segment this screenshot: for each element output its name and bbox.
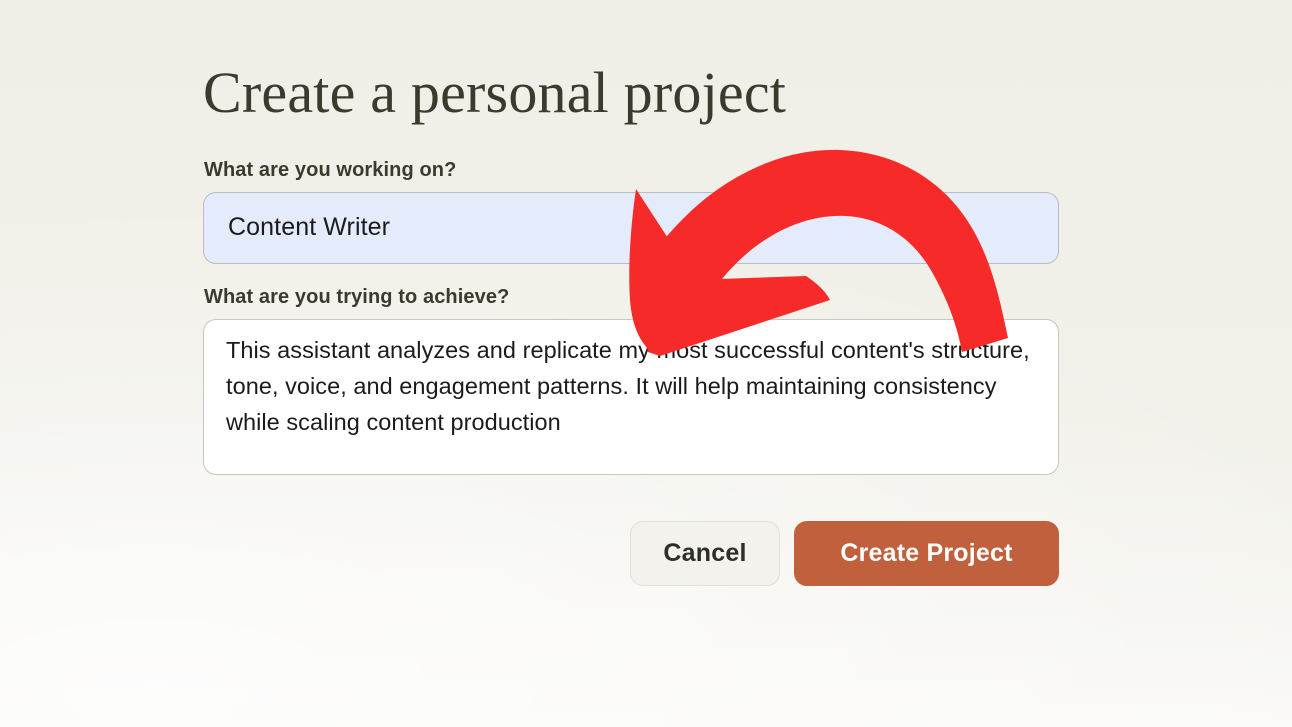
field-trying-to-achieve: What are you trying to achieve? bbox=[203, 286, 1059, 475]
field-spacer bbox=[203, 264, 1059, 286]
working-on-input[interactable] bbox=[203, 192, 1059, 264]
cancel-button[interactable]: Cancel bbox=[630, 521, 780, 586]
create-personal-project-dialog: Create a personal project What are you w… bbox=[203, 62, 1059, 586]
page-title: Create a personal project bbox=[203, 62, 1059, 125]
label-working-on: What are you working on? bbox=[204, 159, 1059, 182]
field-working-on: What are you working on? bbox=[203, 159, 1059, 264]
create-project-button[interactable]: Create Project bbox=[794, 521, 1059, 586]
trying-to-achieve-textarea[interactable] bbox=[203, 319, 1059, 475]
app-screen: Create a personal project What are you w… bbox=[0, 0, 1292, 727]
dialog-actions: Cancel Create Project bbox=[203, 521, 1059, 586]
label-trying-to-achieve: What are you trying to achieve? bbox=[204, 286, 1059, 309]
